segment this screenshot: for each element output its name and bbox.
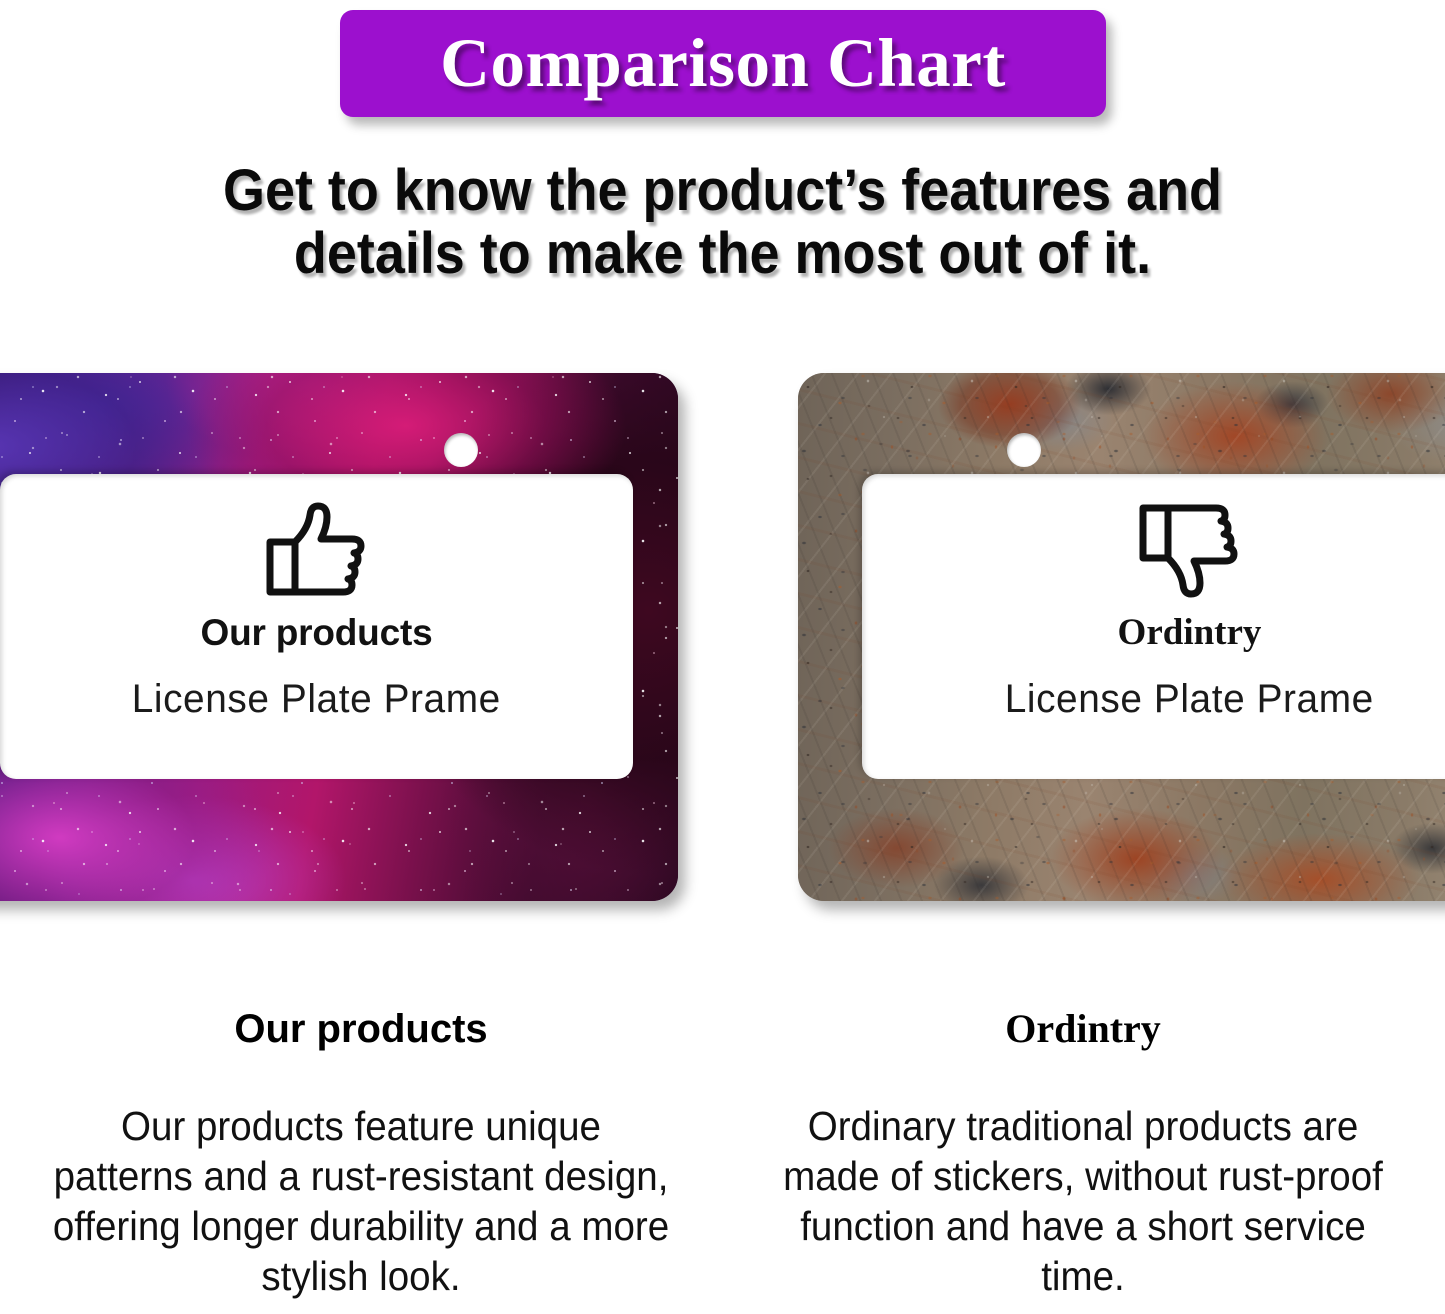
ordintry-column-title: Ordintry bbox=[748, 1009, 1418, 1049]
our-products-column-body: Our products feature unique patterns and… bbox=[46, 1101, 676, 1301]
title-banner: Comparison Chart bbox=[340, 10, 1106, 117]
subtitle-line-2: details to make the most out of it. bbox=[51, 223, 1395, 286]
our-product-plate-frame: Our products License Plate Prame bbox=[0, 373, 678, 901]
subtitle-line-1: Get to know the product’s features and bbox=[51, 160, 1395, 223]
ordinary-product-plate-frame: Ordintry License Plate Prame bbox=[798, 373, 1445, 901]
mounting-hole bbox=[1007, 433, 1041, 467]
thumbs-up-icon bbox=[259, 498, 375, 602]
left-plate-subheading: License Plate Prame bbox=[132, 679, 501, 719]
ordintry-column-body: Ordinary traditional products are made o… bbox=[768, 1101, 1398, 1301]
our-products-column: Our products Our products feature unique… bbox=[0, 985, 722, 1314]
our-products-column-title: Our products bbox=[26, 1009, 696, 1049]
mounting-hole bbox=[444, 433, 478, 467]
comparison-description-row: Our products Our products feature unique… bbox=[0, 985, 1445, 1314]
thumbs-down-icon bbox=[1132, 498, 1248, 602]
page-title: Comparison Chart bbox=[440, 29, 1006, 98]
ordintry-column: Ordintry Ordinary traditional products a… bbox=[722, 985, 1444, 1314]
subtitle: Get to know the product’s features and d… bbox=[51, 160, 1395, 285]
right-plate-subheading: License Plate Prame bbox=[1005, 679, 1374, 719]
right-plate-heading: Ordintry bbox=[1118, 614, 1262, 651]
license-plate-window-right: Ordintry License Plate Prame bbox=[862, 474, 1445, 779]
license-plate-window-left: Our products License Plate Prame bbox=[0, 474, 633, 779]
product-frames-row: Our products License Plate Prame Or bbox=[0, 373, 1445, 903]
left-plate-heading: Our products bbox=[201, 614, 433, 651]
